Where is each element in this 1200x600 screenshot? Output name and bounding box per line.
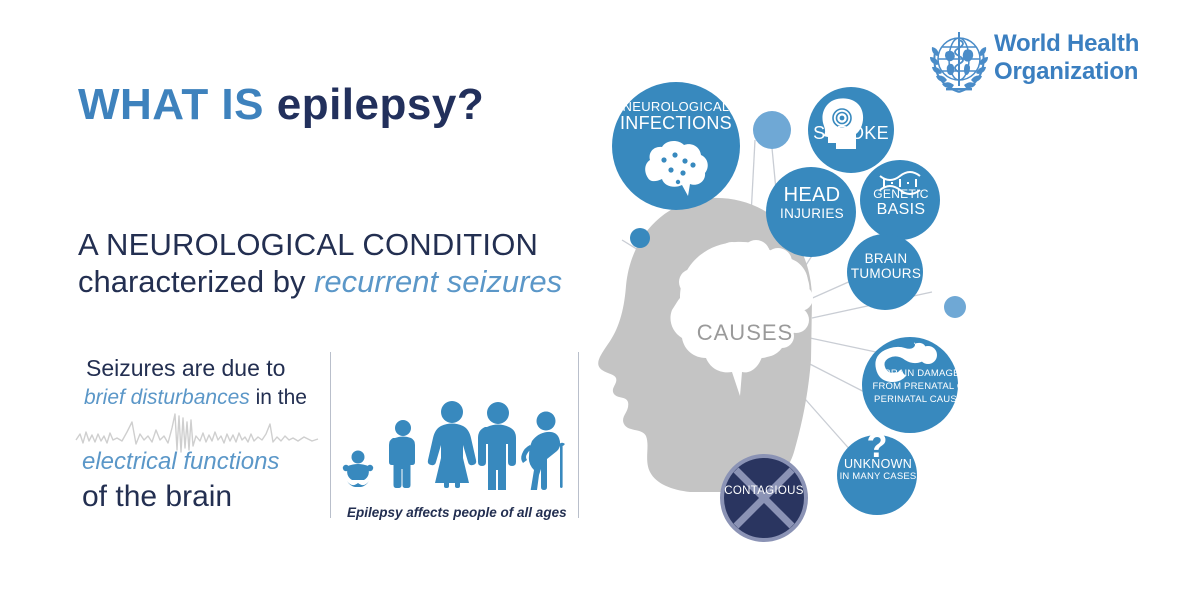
man-figure xyxy=(478,402,516,490)
seizures-line-2-emphasis: brief disturbances xyxy=(84,386,250,409)
bubble-neurological-infections xyxy=(612,82,740,210)
subheading-emphasis: recurrent seizures xyxy=(314,264,562,299)
seizures-line-4: of the brain xyxy=(82,480,232,514)
question-mark-icon: ? xyxy=(867,427,888,465)
baby-figure xyxy=(343,451,373,488)
seizures-line-3: electrical functions xyxy=(82,448,279,476)
subheading: A NEUROLOGICAL CONDITION characterized b… xyxy=(78,228,562,301)
seizures-line-2: brief disturbances in the xyxy=(84,386,307,410)
bubble-unknown-causes: ? xyxy=(837,427,917,515)
bubble-genetic-basis xyxy=(860,160,940,240)
elderly-figure xyxy=(521,412,565,491)
seizures-line-1: Seizures are due to xyxy=(86,355,285,382)
woman-figure xyxy=(428,401,476,488)
seizures-explanation-block: Seizures are due to brief disturbances i… xyxy=(80,355,320,530)
bubble-not-contagious xyxy=(722,456,806,540)
page-title: WHAT IS epilepsy? xyxy=(78,80,484,130)
accent-dot-right xyxy=(944,296,966,318)
accent-dot-left xyxy=(630,228,650,248)
child-figure xyxy=(389,420,415,488)
bubble-brain-tumours xyxy=(847,234,923,310)
people-caption: Epilepsy affects people of all ages xyxy=(347,505,567,520)
seizures-line-2-plain: in the xyxy=(250,386,307,409)
bubble-prenatal-brain-damage xyxy=(862,337,958,433)
left-content-panel: WHAT IS epilepsy? A NEUROLOGICAL CONDITI… xyxy=(0,0,600,600)
subheading-plain: characterized by xyxy=(78,264,314,299)
subheading-line-1: A NEUROLOGICAL CONDITION xyxy=(78,228,562,263)
bubble-stroke xyxy=(808,87,894,173)
causes-diagram: ? CAUSES NEUROLOGICAL INFECTIONS STROKE … xyxy=(580,0,1200,600)
headline-part-dark: epilepsy? xyxy=(277,80,484,129)
subheading-line-2: characterized by recurrent seizures xyxy=(78,263,562,301)
divider-right xyxy=(578,352,579,518)
headline-part-light: WHAT IS xyxy=(78,80,264,129)
age-group-figures xyxy=(340,395,570,490)
causes-center-label: CAUSES xyxy=(680,320,810,346)
infographic-canvas: WHAT IS epilepsy? A NEUROLOGICAL CONDITI… xyxy=(0,0,1200,600)
bubble-head-injuries xyxy=(766,167,856,257)
divider-left xyxy=(330,352,331,518)
